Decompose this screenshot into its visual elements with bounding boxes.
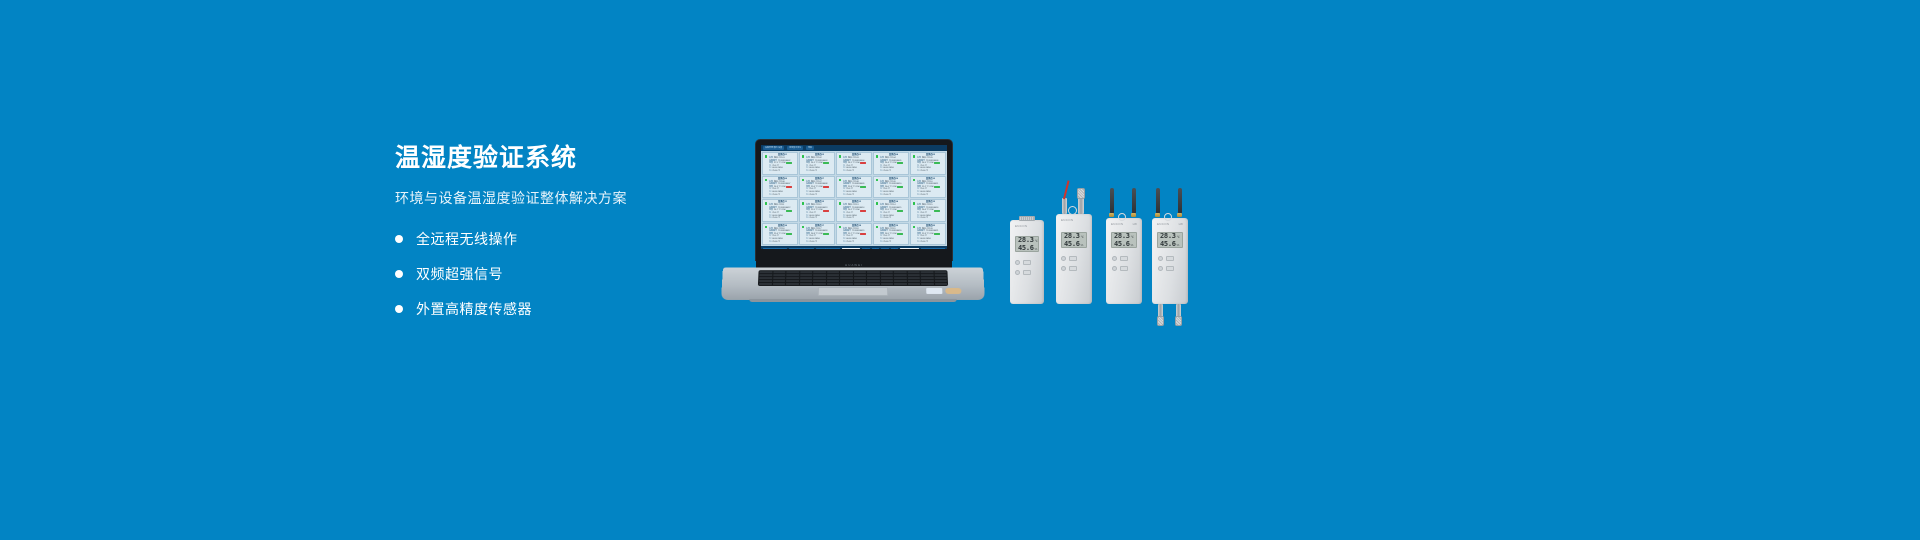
keyboard-row bbox=[759, 274, 946, 276]
brand-left-label: ENCON bbox=[1157, 222, 1169, 226]
update-button[interactable]: 更新 bbox=[763, 248, 787, 249]
keyboard-key[interactable] bbox=[840, 280, 852, 282]
keyboard-key[interactable] bbox=[800, 277, 813, 279]
lcd-humidity-line: 45.6 % bbox=[1160, 240, 1180, 248]
toolbar-field[interactable] bbox=[900, 248, 918, 249]
device-brand-row: ENCON H8 bbox=[1152, 222, 1188, 226]
keyboard-key[interactable] bbox=[894, 283, 907, 285]
keyboard-key[interactable] bbox=[853, 283, 866, 285]
lcd-humidity-line: 45.6 % bbox=[1018, 244, 1036, 252]
sensor-device-handheld: ENCON 28.3 ℃ 45.6 % bbox=[1010, 220, 1044, 304]
keyboard-key[interactable] bbox=[813, 283, 826, 285]
keyboard-key[interactable] bbox=[799, 283, 812, 285]
enter-button[interactable] bbox=[1069, 266, 1077, 271]
keyboard-key[interactable] bbox=[921, 280, 934, 282]
monitor-card[interactable]: 监测点20名称探头-TY120设备编号T1202056021温度25.3 ℃ /… bbox=[910, 223, 946, 246]
temperature-unit: ℃ bbox=[1177, 235, 1180, 239]
keyboard-key[interactable] bbox=[813, 271, 825, 273]
keyboard-key[interactable] bbox=[759, 271, 772, 273]
keyboard-key[interactable] bbox=[880, 283, 893, 285]
laptop-product-image: 设备管理 通讯 设置 温湿度记录仪 帮助 监测点01名称探头-TY101设备编号… bbox=[722, 140, 984, 300]
sensor-device-dual-antenna-a: ENCON H8 28.3 ℃ 45.6 % bbox=[1106, 218, 1142, 304]
pager-first-button[interactable]: 首 bbox=[862, 248, 870, 249]
keyboard-key[interactable] bbox=[786, 277, 799, 279]
card-status-chip bbox=[860, 233, 866, 235]
keyboard-key[interactable] bbox=[867, 274, 879, 276]
humidity-unit: % bbox=[1035, 247, 1038, 251]
keyboard-key[interactable] bbox=[880, 274, 892, 276]
enter-button[interactable] bbox=[1166, 266, 1174, 271]
function-button[interactable] bbox=[1069, 256, 1077, 261]
keyboard-key[interactable] bbox=[907, 280, 920, 282]
antenna-icon bbox=[1110, 188, 1114, 214]
device-button-row bbox=[1112, 266, 1128, 271]
antenna-icon bbox=[1178, 188, 1182, 214]
humidity-unit: % bbox=[1131, 243, 1134, 247]
keyboard-key[interactable] bbox=[759, 274, 772, 276]
keyboard-key[interactable] bbox=[853, 277, 865, 279]
keyboard-key[interactable] bbox=[907, 274, 920, 276]
enter-button[interactable] bbox=[1120, 266, 1128, 271]
card-t3-value: 25.00 ℃ bbox=[772, 194, 780, 197]
vent-icon bbox=[1019, 216, 1035, 221]
set-button[interactable] bbox=[1158, 266, 1163, 271]
probe-connector-icon bbox=[1062, 198, 1067, 214]
monitor-card[interactable]: 监测点13名称探头-TY113设备编号T1202056014温度26.2 ℃ /… bbox=[836, 199, 872, 222]
keyboard-row bbox=[759, 283, 947, 285]
keyboard-key[interactable] bbox=[921, 283, 934, 285]
card-status-chip bbox=[786, 210, 792, 212]
device-button-row bbox=[1061, 256, 1077, 261]
keyboard-key[interactable] bbox=[907, 271, 919, 273]
card-t3-value: 25.00 ℃ bbox=[772, 217, 780, 220]
brand-right-label: H8 bbox=[1179, 222, 1183, 226]
card-t3-value: 25.00 ℃ bbox=[846, 241, 854, 244]
status-led-icon bbox=[802, 155, 805, 158]
brand-left-label: ENCON bbox=[1061, 218, 1073, 222]
keyboard-key[interactable] bbox=[827, 277, 839, 279]
keyboard-key[interactable] bbox=[921, 277, 934, 279]
keyboard-key[interactable] bbox=[759, 277, 772, 279]
exit-button[interactable]: 退出 bbox=[921, 248, 945, 249]
humidity-value: 45.6 bbox=[1018, 244, 1034, 252]
sensor-device-dual-probe: ENCON 28.3 ℃ 45.6 % bbox=[1056, 214, 1092, 304]
status-led-icon bbox=[765, 226, 768, 229]
pager-prev-button[interactable]: 上 bbox=[872, 248, 880, 249]
keyboard-key[interactable] bbox=[786, 283, 799, 285]
status-led-icon bbox=[839, 179, 842, 182]
status-led-icon bbox=[765, 155, 768, 158]
status-led-icon bbox=[839, 202, 842, 205]
keyboard-key[interactable] bbox=[773, 274, 786, 276]
keyboard-key[interactable] bbox=[907, 277, 920, 279]
lcd-display: 28.3 ℃ 45.6 % bbox=[1157, 232, 1183, 248]
monitor-card[interactable]: 监测点10名称探头-TY110设备编号T1202056011温度25.2 ℃ /… bbox=[910, 176, 946, 199]
card-t3-value: 25.00 ℃ bbox=[883, 217, 891, 220]
keyboard-key[interactable] bbox=[894, 280, 907, 282]
hero-banner: 温湿度验证系统 环境与设备温湿度验证整体解决方案 全远程无线操作 双频超强信号 … bbox=[0, 0, 1920, 540]
antenna-base-icon bbox=[1155, 213, 1160, 217]
keyboard-key[interactable] bbox=[773, 271, 786, 273]
keyboard-key[interactable] bbox=[894, 271, 906, 273]
list-item: 外置高精度传感器 bbox=[395, 299, 725, 319]
temperature-value: 28.3 bbox=[1114, 232, 1130, 240]
monitor-card[interactable]: 监测点11名称探头-TY111设备编号T1202056012温度26.7 ℃ /… bbox=[762, 199, 798, 222]
brand-label: HUAWEI bbox=[845, 263, 863, 267]
device-brand-row: ENCON H8 bbox=[1106, 222, 1142, 226]
laptop-sticker-spec bbox=[926, 288, 942, 294]
bullet-dot-icon bbox=[395, 305, 403, 313]
keyboard-key[interactable] bbox=[826, 283, 839, 285]
keyboard-key[interactable] bbox=[880, 277, 892, 279]
card-t3-value: 25.00 ℃ bbox=[883, 194, 891, 197]
keyboard-key[interactable] bbox=[827, 280, 840, 282]
monitor-card[interactable]: 监测点09名称探头-TY109设备编号T1202056010温度26.0 ℃ /… bbox=[873, 176, 909, 199]
keyboard-key[interactable] bbox=[907, 283, 920, 285]
keyboard-key[interactable] bbox=[800, 271, 812, 273]
pager-last-button[interactable]: 末 bbox=[891, 248, 899, 249]
device-brand-row: ENCON bbox=[1010, 224, 1044, 228]
card-t3-value: 25.00 ℃ bbox=[846, 194, 854, 197]
card-status-chip bbox=[934, 186, 940, 188]
antenna-base-icon bbox=[1109, 213, 1114, 217]
device-button-row bbox=[1015, 270, 1031, 275]
keyboard-key[interactable] bbox=[840, 274, 852, 276]
lcd-humidity-line: 45.6 % bbox=[1064, 240, 1084, 248]
card-status-chip bbox=[934, 210, 940, 212]
keyboard-key[interactable] bbox=[800, 274, 812, 276]
function-button[interactable] bbox=[1166, 256, 1174, 261]
antenna-base-icon bbox=[1177, 213, 1182, 217]
software-footer-toolbar: 更新 打印预览 数据库 首 上 下 末 退出 bbox=[761, 246, 947, 249]
lcd-display: 28.3 ℃ 45.6 % bbox=[1061, 232, 1087, 248]
laptop-screen: 设备管理 通讯 设置 温湿度记录仪 帮助 监测点01名称探头-TY101设备编号… bbox=[761, 145, 947, 249]
status-led-icon bbox=[876, 226, 879, 229]
card-status-chip bbox=[823, 210, 829, 212]
status-led-icon bbox=[913, 202, 916, 205]
card-status-chip bbox=[934, 233, 940, 235]
set-button[interactable] bbox=[1061, 266, 1066, 271]
card-t3-value: 25.00 ℃ bbox=[920, 241, 928, 244]
keyboard-key[interactable] bbox=[880, 280, 893, 282]
status-led-icon bbox=[876, 179, 879, 182]
print-preview-button[interactable]: 打印预览 bbox=[789, 248, 813, 249]
header-tab[interactable]: 设备管理 通讯 设置 bbox=[763, 146, 784, 150]
keyboard-key[interactable] bbox=[934, 280, 947, 282]
device-button-row bbox=[1158, 256, 1174, 261]
keyboard-key[interactable] bbox=[827, 274, 839, 276]
temperature-value: 28.3 bbox=[1064, 232, 1080, 240]
device-button-row bbox=[1112, 256, 1128, 261]
probe-mesh-icon bbox=[1157, 316, 1164, 326]
keyboard-key[interactable] bbox=[880, 271, 892, 273]
humidity-unit: % bbox=[1081, 243, 1084, 247]
device-button-row bbox=[1015, 260, 1031, 265]
keyboard-key[interactable] bbox=[773, 280, 786, 282]
lcd-display: 28.3 ℃ 45.6 % bbox=[1015, 236, 1039, 252]
status-led-icon bbox=[839, 226, 842, 229]
hanging-hook-icon bbox=[1164, 213, 1172, 221]
monitor-card[interactable]: 监测点07名称探头-TY107设备编号T1202056008温度25.6 ℃ /… bbox=[799, 176, 835, 199]
keyboard-key[interactable] bbox=[800, 280, 813, 282]
bullet-dot-icon bbox=[395, 235, 403, 243]
keyboard-key[interactable] bbox=[853, 274, 865, 276]
monitoring-grid: 监测点01名称探头-TY101设备编号T1202056002温度27.5 ℃ /… bbox=[761, 151, 947, 246]
device-button-row bbox=[1158, 266, 1174, 271]
sensor-device-group: ENCON 28.3 ℃ 45.6 % bbox=[1000, 180, 1220, 310]
lcd-temperature-line: 28.3 ℃ bbox=[1018, 236, 1036, 244]
keyboard-key[interactable] bbox=[853, 271, 865, 273]
feature-label: 双频超强信号 bbox=[416, 264, 503, 284]
status-led-icon bbox=[913, 226, 916, 229]
list-item: 双频超强信号 bbox=[395, 264, 725, 284]
sensor-device-dual-antenna-b: ENCON H8 28.3 ℃ 45.6 % bbox=[1152, 218, 1188, 304]
laptop-front-edge bbox=[749, 299, 957, 302]
card-t3-value: 25.00 ℃ bbox=[846, 170, 854, 173]
status-led-icon bbox=[913, 155, 916, 158]
lcd-temperature-line: 28.3 ℃ bbox=[1114, 232, 1134, 240]
keyboard-key[interactable] bbox=[786, 271, 798, 273]
monitor-card[interactable]: 监测点02名称探头-TY102设备编号T1202056003温度26.1 ℃ /… bbox=[799, 152, 835, 175]
card-t3-value: 25.00 ℃ bbox=[809, 241, 817, 244]
keyboard-key[interactable] bbox=[934, 271, 947, 273]
database-button[interactable]: 数据库 bbox=[816, 248, 840, 249]
keyboard-key[interactable] bbox=[827, 271, 839, 273]
monitor-card[interactable]: 监测点19名称探头-TY119设备编号T1202056020温度26.5 ℃ /… bbox=[873, 223, 909, 246]
hanging-hook-icon bbox=[1068, 206, 1077, 215]
temperature-unit: ℃ bbox=[1081, 235, 1084, 239]
keyboard-key[interactable] bbox=[867, 283, 880, 285]
keyboard-key[interactable] bbox=[867, 277, 879, 279]
keyboard-key[interactable] bbox=[840, 277, 852, 279]
power-button[interactable] bbox=[1112, 256, 1117, 261]
keyboard-key[interactable] bbox=[894, 274, 906, 276]
status-led-icon bbox=[802, 226, 805, 229]
feature-list: 全远程无线操作 双频超强信号 外置高精度传感器 bbox=[395, 229, 725, 319]
device-button-row bbox=[1061, 266, 1077, 271]
keyboard-key[interactable] bbox=[840, 283, 853, 285]
card-t3-value: 25.00 ℃ bbox=[920, 194, 928, 197]
monitor-card[interactable]: 监测点15名称探头-TY115设备编号T1202056016温度26.6 ℃ /… bbox=[910, 199, 946, 222]
probe-mesh-icon bbox=[1175, 316, 1182, 326]
status-led-icon bbox=[802, 179, 805, 182]
probe-wire bbox=[1063, 180, 1069, 199]
monitor-card[interactable]: 监测点12名称探头-TY112设备编号T1202056013温度25.9 ℃ /… bbox=[799, 199, 835, 222]
keyboard-key[interactable] bbox=[867, 271, 879, 273]
monitor-card[interactable]: 监测点18名称探头-TY118设备编号T1202056019温度25.7 ℃ /… bbox=[836, 223, 872, 246]
antenna-base-icon bbox=[1131, 213, 1136, 217]
keyboard-key[interactable] bbox=[921, 271, 934, 273]
keyboard-row bbox=[759, 277, 947, 279]
status-led-icon bbox=[765, 202, 768, 205]
hero-copy: 温湿度验证系统 环境与设备温湿度验证整体解决方案 全远程无线操作 双频超强信号 … bbox=[395, 143, 725, 334]
brand-right-label: H8 bbox=[1133, 222, 1137, 226]
status-led-icon bbox=[913, 179, 916, 182]
card-status-chip bbox=[897, 186, 903, 188]
antenna-icon bbox=[1132, 188, 1136, 214]
monitor-card[interactable]: 监测点16名称探头-TY116设备编号T1202056017温度25.4 ℃ /… bbox=[762, 223, 798, 246]
status-led-icon bbox=[765, 179, 768, 182]
card-status-chip bbox=[860, 186, 866, 188]
status-led-icon bbox=[802, 202, 805, 205]
keyboard-key[interactable] bbox=[786, 280, 799, 282]
keyboard-key[interactable] bbox=[813, 277, 825, 279]
monitor-card[interactable]: 监测点08名称探头-TY108设备编号T1202056009温度25.8 ℃ /… bbox=[836, 176, 872, 199]
card-t3-value: 25.00 ℃ bbox=[772, 241, 780, 244]
brand-left-label: ENCON bbox=[1015, 224, 1027, 228]
power-button[interactable] bbox=[1061, 256, 1066, 261]
power-button[interactable] bbox=[1015, 260, 1020, 265]
power-button[interactable] bbox=[1158, 256, 1163, 261]
keyboard-key[interactable] bbox=[934, 277, 947, 279]
lcd-display: 28.3 ℃ 45.6 % bbox=[1111, 232, 1137, 248]
keyboard-key[interactable] bbox=[786, 274, 799, 276]
monitor-card[interactable]: 监测点04名称探头-TY104设备编号T1202056005温度26.4 ℃ /… bbox=[873, 152, 909, 175]
humidity-unit: % bbox=[1177, 243, 1180, 247]
keyboard-key[interactable] bbox=[772, 283, 785, 285]
card-status-chip bbox=[897, 233, 903, 235]
status-led-icon bbox=[839, 155, 842, 158]
monitor-card[interactable]: 监测点01名称探头-TY101设备编号T1202056002温度27.5 ℃ /… bbox=[762, 152, 798, 175]
lcd-temperature-line: 28.3 ℃ bbox=[1064, 232, 1084, 240]
monitor-card[interactable]: 监测点14名称探头-TY114设备编号T1202056015温度25.5 ℃ /… bbox=[873, 199, 909, 222]
device-brand-row: ENCON bbox=[1056, 218, 1092, 222]
function-button[interactable] bbox=[1023, 260, 1031, 265]
laptop-sticker-badge bbox=[945, 288, 961, 294]
keyboard-key[interactable] bbox=[813, 274, 825, 276]
header-tab[interactable]: 帮助 bbox=[806, 146, 814, 150]
humidity-value: 45.6 bbox=[1114, 240, 1130, 248]
laptop-lid: 设备管理 通讯 设置 温湿度记录仪 帮助 监测点01名称探头-TY101设备编号… bbox=[756, 140, 952, 260]
card-t3-value: 25.00 ℃ bbox=[846, 217, 854, 220]
keyboard-key[interactable] bbox=[934, 274, 947, 276]
bullet-dot-icon bbox=[395, 270, 403, 278]
lcd-humidity-line: 45.6 % bbox=[1114, 240, 1134, 248]
laptop-trackpad[interactable] bbox=[818, 287, 888, 296]
card-t3-value: 25.00 ℃ bbox=[809, 170, 817, 173]
header-tab[interactable]: 温湿度记录仪 bbox=[787, 146, 803, 150]
keyboard-row bbox=[759, 271, 946, 273]
keyboard-key[interactable] bbox=[867, 280, 880, 282]
card-t3-value: 25.00 ℃ bbox=[920, 217, 928, 220]
keyboard-key[interactable] bbox=[759, 283, 772, 285]
card-t3-value: 25.00 ℃ bbox=[809, 217, 817, 220]
card-t3-value: 25.00 ℃ bbox=[883, 170, 891, 173]
monitor-card[interactable]: 监测点03名称探头-TY103设备编号T1202056004温度28.1 ℃ /… bbox=[836, 152, 872, 175]
keyboard-key[interactable] bbox=[773, 277, 786, 279]
monitor-card[interactable]: 监测点06名称探头-TY106设备编号T1202056007温度26.3 ℃ /… bbox=[762, 176, 798, 199]
card-status-chip bbox=[823, 233, 829, 235]
keyboard-row bbox=[759, 280, 947, 282]
temperature-unit: ℃ bbox=[1131, 235, 1134, 239]
status-led-icon bbox=[876, 202, 879, 205]
set-button[interactable] bbox=[1112, 266, 1117, 271]
card-status-chip bbox=[897, 210, 903, 212]
card-t3-value: 25.00 ℃ bbox=[772, 170, 780, 173]
hanging-hook-icon bbox=[1118, 213, 1126, 221]
card-status-chip bbox=[860, 210, 866, 212]
keyboard-key[interactable] bbox=[921, 274, 934, 276]
monitor-card[interactable]: 监测点17名称探头-TY117设备编号T1202056018温度26.8 ℃ /… bbox=[799, 223, 835, 246]
keyboard-key[interactable] bbox=[934, 283, 947, 285]
card-status-chip bbox=[786, 186, 792, 188]
toolbar-field[interactable] bbox=[842, 248, 860, 249]
temperature-value: 28.3 bbox=[1160, 232, 1176, 240]
card-t3-value: 25.00 ℃ bbox=[920, 170, 928, 173]
status-led-icon bbox=[876, 155, 879, 158]
laptop-base bbox=[721, 267, 985, 300]
card-t3-value: 25.00 ℃ bbox=[883, 241, 891, 244]
enter-button[interactable] bbox=[1023, 270, 1031, 275]
keyboard-key[interactable] bbox=[894, 277, 907, 279]
brand-left-label: ENCON bbox=[1111, 222, 1123, 226]
keyboard-key[interactable] bbox=[853, 280, 865, 282]
keyboard-key[interactable] bbox=[813, 280, 826, 282]
antenna-icon bbox=[1156, 188, 1160, 214]
humidity-value: 45.6 bbox=[1160, 240, 1176, 248]
feature-label: 全远程无线操作 bbox=[416, 229, 518, 249]
card-t3-value: 25.00 ℃ bbox=[809, 194, 817, 197]
keyboard-key[interactable] bbox=[840, 271, 852, 273]
feature-label: 外置高精度传感器 bbox=[416, 299, 532, 319]
page-subtitle: 环境与设备温湿度验证整体解决方案 bbox=[395, 189, 725, 207]
temperature-value: 28.3 bbox=[1018, 236, 1034, 244]
set-button[interactable] bbox=[1015, 270, 1020, 275]
lcd-temperature-line: 28.3 ℃ bbox=[1160, 232, 1180, 240]
card-status-chip bbox=[823, 186, 829, 188]
monitor-card[interactable]: 监测点05名称探头-TY105设备编号T1202056006温度26.9 ℃ /… bbox=[910, 152, 946, 175]
probe-mesh-icon bbox=[1077, 188, 1085, 199]
pager-next-button[interactable]: 下 bbox=[881, 248, 889, 249]
keyboard-key[interactable] bbox=[759, 280, 772, 282]
temperature-unit: ℃ bbox=[1035, 239, 1038, 243]
card-status-chip bbox=[786, 233, 792, 235]
laptop-keyboard[interactable] bbox=[758, 270, 948, 286]
list-item: 全远程无线操作 bbox=[395, 229, 725, 249]
humidity-value: 45.6 bbox=[1064, 240, 1080, 248]
function-button[interactable] bbox=[1120, 256, 1128, 261]
page-title: 温湿度验证系统 bbox=[395, 143, 725, 173]
